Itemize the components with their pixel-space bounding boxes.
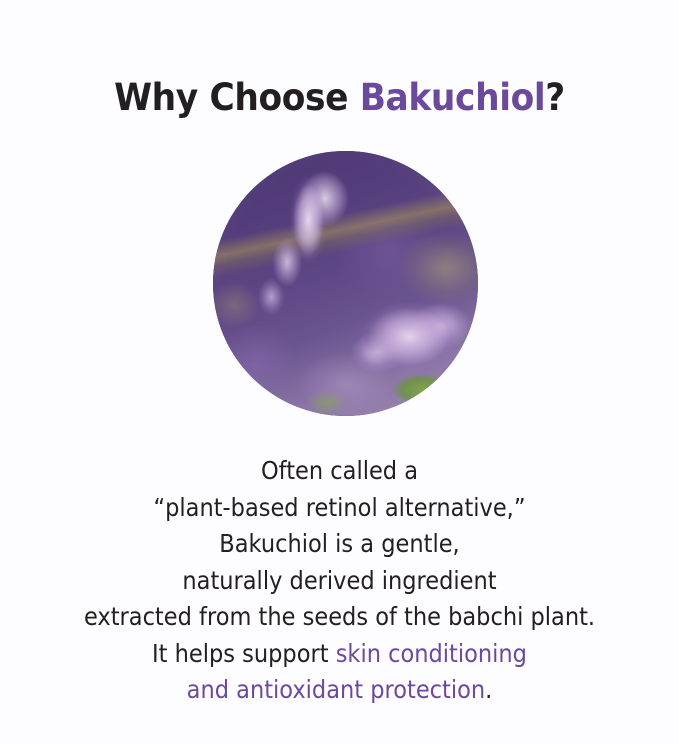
body-copy: Often called a“plant-based retinol alter…	[34, 453, 645, 709]
body-copy-line: Often called a	[34, 453, 645, 490]
body-copy-line: “plant-based retinol alternative,”	[34, 490, 645, 527]
body-copy-line: extracted from the seeds of the babchi p…	[34, 599, 645, 636]
body-copy-line: It helps support skin conditioning	[34, 636, 645, 673]
body-copy-accent-text: skin conditioning	[336, 639, 527, 668]
body-copy-text: naturally derived ingredient	[182, 566, 496, 595]
body-copy-text: Often called a	[261, 456, 418, 485]
body-copy-text: “plant-based retinol alternative,”	[153, 493, 525, 522]
body-copy-line: naturally derived ingredient	[34, 563, 645, 600]
body-copy-text: Bakuchiol is a gentle,	[219, 529, 459, 558]
page-title: Why Choose Bakuchiol?	[24, 75, 655, 121]
page-title-accent: Bakuchiol	[360, 76, 546, 119]
body-copy-text: .	[485, 675, 492, 704]
body-copy-text: It helps support	[152, 639, 336, 668]
page-title-suffix: ?	[545, 76, 565, 119]
body-copy-text: extracted from the seeds of the babchi p…	[84, 602, 595, 631]
body-copy-accent-text: and antioxidant protection	[187, 675, 485, 704]
page-title-prefix: Why Choose	[114, 76, 360, 119]
bakuchiol-flower-photo	[213, 151, 478, 416]
why-choose-bakuchiol-panel: Why Choose Bakuchiol? Often called a“pla…	[0, 0, 679, 744]
photo-edge-vignette	[213, 151, 478, 416]
body-copy-line: and antioxidant protection.	[34, 672, 645, 709]
body-copy-line: Bakuchiol is a gentle,	[34, 526, 645, 563]
